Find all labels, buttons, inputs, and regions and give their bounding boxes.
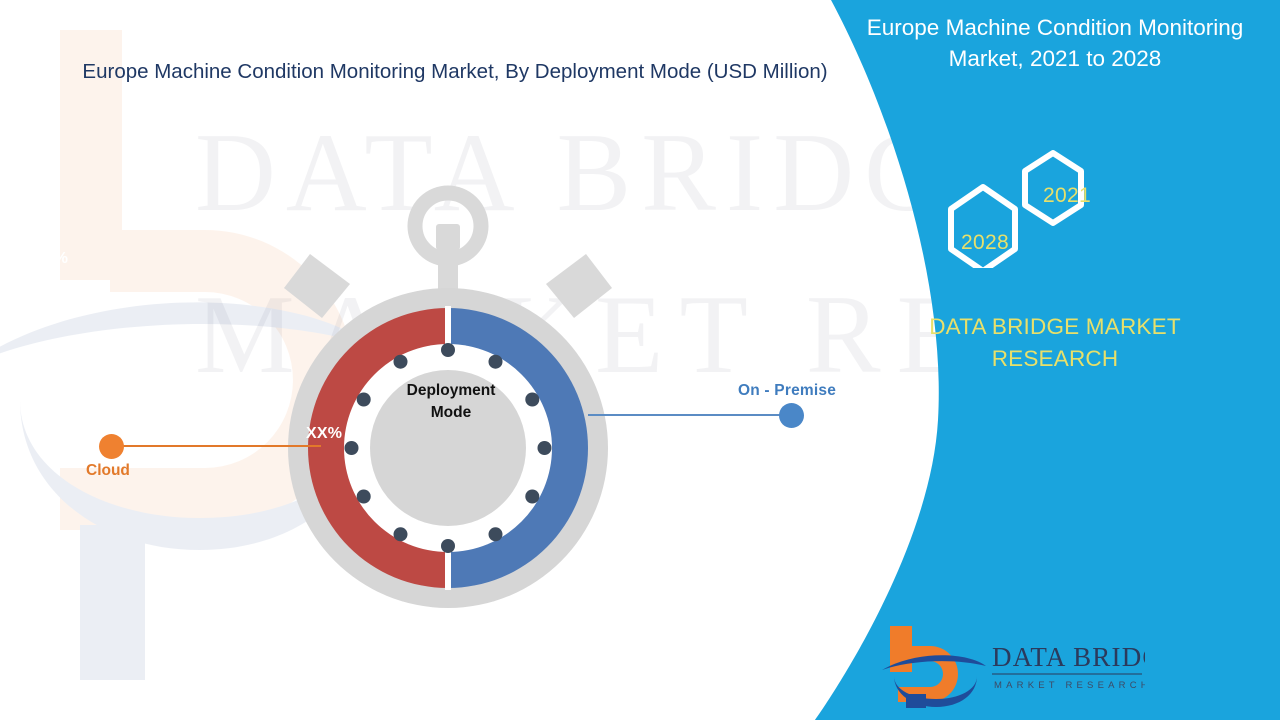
- year-hexagons: 2021 2028: [925, 143, 1205, 268]
- infographic-canvas: DATA BRIDGE MARKET RESEARCH Europe Machi…: [0, 0, 1280, 720]
- brand-name-line2: RESEARCH: [992, 346, 1119, 371]
- cloud-callout-label: Cloud: [86, 462, 130, 480]
- logo-b-mark-icon: [882, 626, 986, 708]
- logo-tagline: MARKET RESEARCH: [994, 680, 1145, 691]
- donut-center-label: Deployment Mode: [366, 380, 536, 424]
- deployment-mode-donut-chart: Deployment Mode: [250, 180, 650, 630]
- cloud-percentage-label: XX%: [32, 250, 68, 268]
- chart-title: Europe Machine Condition Monitoring Mark…: [60, 56, 850, 88]
- data-bridge-logo: DATA BRIDGE MARKET RESEARCH: [880, 618, 1145, 710]
- brand-panel-content: Europe Machine Condition Monitoring Mark…: [855, 0, 1280, 720]
- donut-center-label-line2: Mode: [431, 404, 471, 421]
- hexagon-2028-label: 2028: [961, 231, 1009, 255]
- brand-name-line1: DATA BRIDGE MARKET: [929, 314, 1181, 339]
- stopwatch-crown-icon: [415, 193, 481, 294]
- hexagon-2021-label: 2021: [1043, 184, 1091, 208]
- brand-name: DATA BRIDGE MARKET RESEARCH: [855, 311, 1255, 375]
- panel-title: Europe Machine Condition Monitoring Mark…: [855, 12, 1255, 74]
- hexagon-2028: [951, 187, 1015, 268]
- cloud-callout-line: [118, 445, 321, 447]
- on-premise-percentage-label: XX%: [306, 425, 342, 443]
- donut-center-label-line1: Deployment: [407, 382, 496, 399]
- logo-wordmark: DATA BRIDGE: [992, 642, 1145, 672]
- on-premise-callout-line: [588, 414, 784, 416]
- on-premise-callout-dot: [779, 403, 804, 428]
- cloud-callout-dot: [99, 434, 124, 459]
